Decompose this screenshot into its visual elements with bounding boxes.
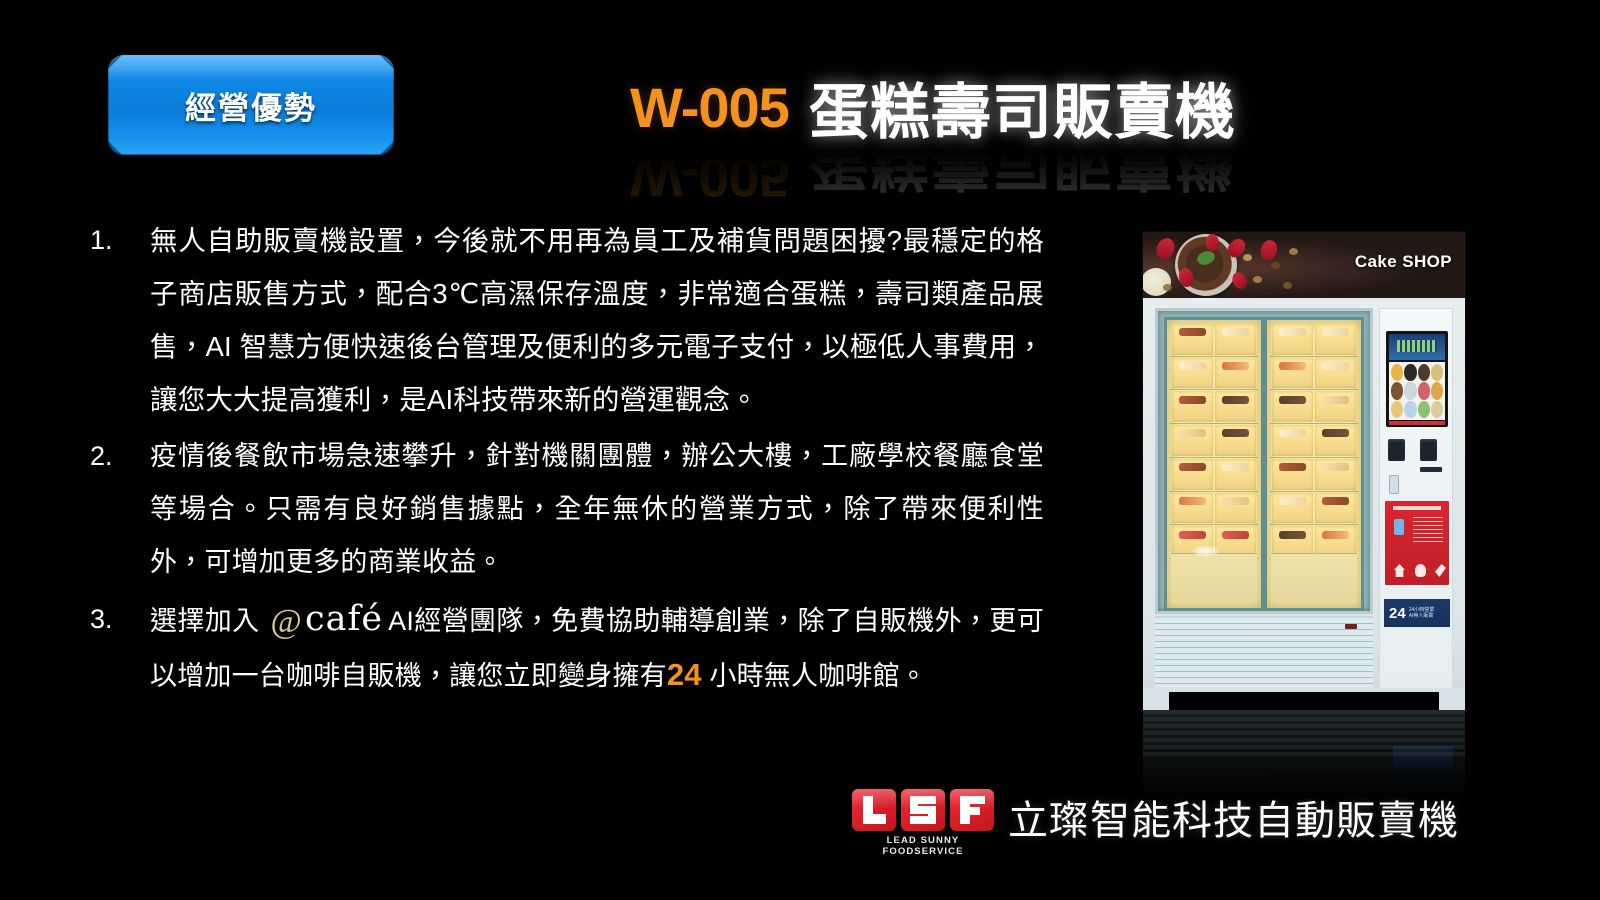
shelf-row: [1270, 323, 1358, 357]
product-thumb-icon: [1404, 364, 1416, 381]
page-title: W-005 蛋糕壽司販賣機: [630, 62, 1410, 152]
product-cell: [1272, 425, 1313, 456]
screen-banner: [1389, 334, 1445, 360]
shelf-row: [1270, 458, 1358, 492]
lsf-logo: LEAD SUNNY FOODSERVICE: [852, 789, 994, 845]
shelf-row: [1270, 492, 1358, 526]
card-reader-icon[interactable]: [1388, 439, 1405, 461]
nut-icon: [1163, 284, 1172, 291]
page-title-code-reflection: W-005: [630, 150, 789, 210]
product-cell: [1272, 358, 1313, 389]
product-thumb-icon: [1391, 364, 1403, 381]
product-thumb-icon: [1391, 382, 1403, 399]
screen-product-grid[interactable]: [1389, 362, 1445, 420]
vending-cabinet: 24 24小時營業 AI無人販賣: [1143, 298, 1465, 710]
house-icon: [1394, 564, 1405, 577]
list-item-text: 疫情後餐飲市場急速攀升，針對機關團體，辦公大樓，工廠學校餐廳食堂等場合。只需有良…: [150, 430, 1044, 589]
product-thumb-icon: [1391, 401, 1403, 418]
badge-24h-reflection: [1393, 746, 1453, 768]
shelf-row: [1270, 390, 1358, 424]
section-badge: 經營優勢: [108, 55, 394, 155]
door-lower-panel: [1171, 553, 1257, 604]
product-thumb-icon: [1404, 382, 1416, 399]
pear-slice-image: [1143, 268, 1171, 296]
product-cell: [1215, 358, 1256, 389]
refrigerated-display-case: [1155, 308, 1373, 614]
door-lower-panel: [1271, 553, 1357, 604]
product-thumb-icon: [1418, 401, 1430, 418]
at-symbol-icon: @: [267, 603, 305, 640]
page-title-main: 蛋糕壽司販賣機: [809, 64, 1236, 151]
vending-machine-photo: Cake SHOP: [1143, 232, 1465, 710]
hand-icon: [1435, 564, 1446, 577]
product-cell: [1172, 459, 1213, 490]
product-shelves: [1170, 323, 1258, 559]
product-cell: [1315, 391, 1356, 422]
product-cell: [1315, 459, 1356, 490]
product-cell: [1315, 425, 1356, 456]
list-item: 1. 無人自助販賣機設置，今後就不用再為員工及補貨問題困擾?最穩定的格子商店販售…: [84, 214, 1044, 426]
list-item-text-rich: 選擇加入 @caféAI經營團隊，免費協助輔導創業，除了自販機外，更可以增加一台…: [150, 593, 1044, 703]
list-item-suffix: 小時無人咖啡館。: [709, 661, 927, 691]
company-name: 立璨智能科技自動販賣機: [1008, 788, 1459, 846]
badge-24h: 24 24小時營業 AI無人販賣: [1384, 599, 1450, 627]
phone-icon: [1394, 519, 1404, 535]
product-thumb-icon: [1418, 364, 1430, 381]
product-thumb-icon: [1404, 401, 1416, 418]
display-door-right: [1264, 317, 1364, 611]
poster-text-lines: [1413, 517, 1443, 543]
nut-icon: [1253, 276, 1262, 283]
highlight-24: 24: [667, 657, 702, 692]
list-item-number: 3.: [84, 593, 150, 703]
page-title-main-reflection: 蛋糕壽司販賣機: [809, 150, 1236, 210]
lsf-letter-f-icon: [950, 789, 994, 831]
shelf-row: [1170, 390, 1258, 424]
product-cell: [1315, 358, 1356, 389]
product-cell: [1315, 324, 1356, 355]
slide-root: 經營優勢 W-005 蛋糕壽司販賣機 W-005 蛋糕壽司販賣機 1. 無人自助…: [0, 0, 1600, 900]
product-cell: [1172, 358, 1213, 389]
coin-acceptor-icon[interactable]: [1389, 475, 1399, 494]
card-reader-icon[interactable]: [1420, 439, 1437, 461]
nut-icon: [1289, 248, 1298, 255]
nut-icon: [1283, 282, 1292, 289]
shelf-row: [1170, 424, 1258, 458]
product-cell: [1172, 391, 1213, 422]
control-panel: 24 24小時營業 AI無人販賣: [1379, 308, 1453, 702]
product-cell: [1272, 459, 1313, 490]
badge-24h-number: 24: [1389, 606, 1406, 621]
shelf-row: [1170, 357, 1258, 391]
list-item: 2. 疫情後餐飲市場急速攀升，針對機關團體，辦公大樓，工廠學校餐廳食堂等場合。只…: [84, 430, 1044, 589]
shelf-row: [1170, 492, 1258, 526]
shelf-row: [1270, 357, 1358, 391]
product-thumb-icon: [1431, 401, 1443, 418]
product-cell: [1215, 493, 1256, 524]
product-cell: [1215, 425, 1256, 456]
shelf-row: [1170, 323, 1258, 357]
list-item: 3. 選擇加入 @caféAI經營團隊，免費協助輔導創業，除了自販機外，更可以增…: [84, 593, 1044, 703]
list-item-number: 2.: [84, 430, 150, 589]
product-cell: [1215, 391, 1256, 422]
cake-shop-label: Cake SHOP: [1355, 252, 1452, 272]
list-item-prefix: 選擇加入: [150, 606, 260, 636]
status-led-icon: [1345, 624, 1357, 629]
lsf-letter-l-icon: [852, 789, 896, 831]
badge-24h-subtext: 24小時營業 AI無人販賣: [1409, 607, 1435, 620]
product-cell: [1215, 324, 1256, 355]
product-cell: [1172, 493, 1213, 524]
footer-brand: LEAD SUNNY FOODSERVICE 立璨智能科技自動販賣機: [852, 786, 1459, 848]
lsf-logo-tagline: LEAD SUNNY FOODSERVICE: [852, 835, 994, 857]
section-badge-label: 經營優勢: [108, 55, 394, 155]
shelf-row: [1270, 424, 1358, 458]
product-cell: [1272, 493, 1313, 524]
strawberry-icon: [1259, 238, 1280, 262]
product-thumb-icon: [1418, 382, 1430, 399]
page-title-code: W-005: [630, 75, 789, 140]
nut-icon: [1271, 262, 1280, 269]
lsf-logo-tiles: [852, 789, 994, 831]
list-item-text: 無人自助販賣機設置，今後就不用再為員工及補貨問題困擾?最穩定的格子商店販售方式，…: [150, 214, 1044, 426]
product-cell: [1272, 391, 1313, 422]
product-cell: [1315, 493, 1356, 524]
page-title-reflection: W-005 蛋糕壽司販賣機: [630, 150, 1410, 210]
poster-title-bar: [1393, 506, 1441, 510]
product-thumb-icon: [1431, 382, 1443, 399]
cafe-brand-word: café: [305, 599, 388, 639]
strawberry-icon: [1153, 235, 1177, 261]
machine-floor-strip: [1143, 688, 1465, 710]
card-slot-icon[interactable]: [1420, 467, 1442, 472]
screen-bottom-bar: [1389, 421, 1445, 425]
cake-shop-header-banner: Cake SHOP: [1143, 232, 1465, 298]
shelf-row: [1170, 458, 1258, 492]
cup-icon: [1415, 564, 1426, 577]
display-door-left: [1164, 317, 1264, 611]
list-item-number: 1.: [84, 214, 150, 426]
product-cell: [1172, 324, 1213, 355]
touchscreen[interactable]: [1386, 331, 1448, 427]
product-shelves: [1270, 323, 1358, 559]
bullet-list: 1. 無人自助販賣機設置，今後就不用再為員工及補貨問題困擾?最穩定的格子商店販售…: [84, 214, 1044, 707]
instruction-poster: [1385, 501, 1449, 585]
nut-icon: [1243, 254, 1252, 261]
product-thumb-icon: [1431, 364, 1443, 381]
product-cell: [1172, 425, 1213, 456]
machine-shadow-strip: [1169, 692, 1439, 710]
product-cell: [1272, 324, 1313, 355]
lsf-letter-s-icon: [901, 789, 945, 831]
product-cell: [1215, 459, 1256, 490]
